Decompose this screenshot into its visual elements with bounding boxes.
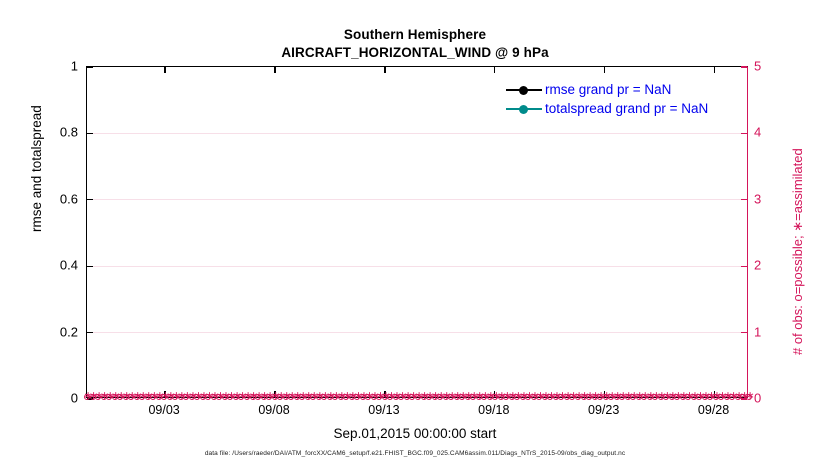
obs-assimilated-marker: ∗ [608,392,615,401]
obs-possible-marker [310,394,316,400]
y-axis-left-ticklabel: 0.4 [60,258,78,273]
obs-assimilated-marker: ∗ [365,392,372,401]
obs-possible-marker [553,394,559,400]
chart-title: Southern Hemisphere [0,26,830,44]
obs-possible-marker [266,394,272,400]
obs-possible-marker [338,394,344,400]
y-axis-left-ticklabel: 0.2 [60,324,78,339]
obs-possible-marker [448,394,454,400]
obs-possible-marker [327,394,333,400]
obs-assimilated-marker: ∗ [558,392,565,401]
obs-possible-marker [630,394,636,400]
y-axis-left-tick [87,332,93,333]
obs-assimilated-marker: ∗ [210,392,217,401]
obs-possible-marker [261,394,267,400]
obs-assimilated-marker: ∗ [431,392,438,401]
obs-assimilated-marker: ∗ [619,392,626,401]
obs-possible-marker [178,394,184,400]
y-axis-right-tick [741,133,747,134]
x-axis-ticklabel: 09/28 [698,403,729,417]
obs-assimilated-marker: ∗ [508,392,515,401]
obs-assimilated-marker: ∗ [679,392,686,401]
y-axis-left-ticklabel: 0.6 [60,191,78,206]
y-axis-left-ticklabel: 1 [71,59,78,74]
x-axis-tick [384,391,385,397]
obs-possible-marker [349,394,355,400]
obs-possible-marker [674,394,680,400]
legend-marker-totalspread-icon [506,102,542,116]
obs-assimilated-marker: ∗ [205,392,212,401]
obs-possible-marker [227,394,233,400]
obs-possible-marker [531,394,537,400]
obs-assimilated-marker: ∗ [541,392,548,401]
obs-assimilated-marker: ∗ [409,392,416,401]
obs-possible-marker [459,394,465,400]
obs-possible-marker [470,394,476,400]
x-axis-tick-top [604,67,605,73]
x-axis-tick-top [384,67,385,73]
obs-assimilated-marker: ∗ [243,392,250,401]
obs-possible-marker [95,394,101,400]
obs-assimilated-marker: ∗ [128,392,135,401]
obs-possible-marker [277,394,283,400]
obs-possible-marker [536,394,542,400]
obs-possible-marker [194,394,200,400]
obs-assimilated-marker: ∗ [624,392,631,401]
obs-assimilated-marker: ∗ [177,392,184,401]
obs-possible-marker [696,394,702,400]
obs-assimilated-marker: ∗ [299,392,306,401]
obs-possible-marker [123,394,129,400]
obs-possible-marker [680,394,686,400]
obs-assimilated-marker: ∗ [475,392,482,401]
obs-possible-marker [592,394,598,400]
obs-assimilated-marker: ∗ [663,392,670,401]
obs-assimilated-marker: ∗ [277,392,284,401]
obs-assimilated-marker: ∗ [172,392,179,401]
obs-assimilated-marker: ∗ [403,392,410,401]
obs-assimilated-marker: ∗ [95,392,102,401]
obs-possible-marker [581,394,587,400]
obs-assimilated-marker: ∗ [690,392,697,401]
obs-assimilated-marker: ∗ [597,392,604,401]
x-axis-title: Sep.01,2015 00:00:00 start [0,426,830,441]
y-axis-right-tick [741,266,747,267]
obs-possible-marker [503,394,509,400]
obs-assimilated-marker: ∗ [530,392,537,401]
obs-assimilated-marker: ∗ [216,392,223,401]
obs-possible-marker [525,394,531,400]
x-axis-tick-top [274,67,275,73]
obs-possible-marker [305,394,311,400]
obs-possible-marker [145,394,151,400]
chart-title-block: Southern Hemisphere AIRCRAFT_HORIZONTAL_… [0,26,830,62]
data-file-footer: data file: /Users/raeder/DAI/ATM_forcXX/… [0,450,830,457]
obs-possible-marker [404,394,410,400]
obs-possible-marker [238,394,244,400]
obs-assimilated-marker: ∗ [685,392,692,401]
obs-possible-marker [112,394,118,400]
obs-assimilated-marker: ∗ [321,392,328,401]
y-axis-right-ticklabel: 3 [754,191,761,206]
x-axis-tick [164,391,165,397]
obs-assimilated-marker: ∗ [199,392,206,401]
obs-assimilated-marker: ∗ [635,392,642,401]
obs-possible-marker [586,394,592,400]
obs-possible-marker [614,394,620,400]
obs-assimilated-marker: ∗ [701,392,708,401]
y-axis-right-tick [741,332,747,333]
y-axis-left-tick [87,398,93,399]
obs-assimilated-marker: ∗ [392,392,399,401]
obs-possible-marker [244,394,250,400]
obs-assimilated-marker: ∗ [117,392,124,401]
gridline [87,199,747,200]
obs-assimilated-marker: ∗ [166,392,173,401]
obs-assimilated-marker: ∗ [448,392,455,401]
obs-assimilated-marker: ∗ [348,392,355,401]
obs-assimilated-marker: ∗ [326,392,333,401]
x-axis-ticklabel: 09/23 [588,403,619,417]
obs-assimilated-marker: ∗ [227,392,234,401]
obs-possible-marker [150,394,156,400]
obs-possible-marker [658,394,664,400]
obs-possible-marker [205,394,211,400]
obs-assimilated-marker: ∗ [188,392,195,401]
y-axis-right-tick [741,398,747,399]
x-axis-ticklabel: 09/03 [148,403,179,417]
obs-possible-marker [156,394,162,400]
obs-assimilated-marker: ∗ [442,392,449,401]
obs-possible-marker [321,394,327,400]
obs-possible-marker [106,394,112,400]
obs-assimilated-marker: ∗ [470,392,477,401]
obs-assimilated-marker: ∗ [420,392,427,401]
obs-possible-marker [415,394,421,400]
obs-possible-marker [183,394,189,400]
y-axis-right-ticklabel: 0 [754,391,761,406]
obs-possible-marker [454,394,460,400]
obs-possible-marker [663,394,669,400]
y-axis-right-ticklabel: 1 [754,324,761,339]
legend-marker-rmse-icon [506,83,542,97]
obs-possible-marker [597,394,603,400]
obs-possible-marker [172,394,178,400]
obs-assimilated-marker: ∗ [376,392,383,401]
obs-possible-marker [641,394,647,400]
obs-assimilated-marker: ∗ [641,392,648,401]
obs-possible-marker [250,394,256,400]
y-axis-left-ticklabel: 0 [71,391,78,406]
obs-possible-marker [255,394,261,400]
obs-assimilated-marker: ∗ [106,392,113,401]
obs-assimilated-marker: ∗ [707,392,714,401]
obs-assimilated-marker: ∗ [696,392,703,401]
obs-possible-marker [393,394,399,400]
obs-assimilated-marker: ∗ [569,392,576,401]
obs-assimilated-marker: ∗ [580,392,587,401]
obs-possible-marker [211,394,217,400]
obs-assimilated-marker: ∗ [652,392,659,401]
obs-assimilated-marker: ∗ [255,392,262,401]
y-axis-left-tick [87,66,93,67]
obs-possible-marker [443,394,449,400]
obs-assimilated-marker: ∗ [613,392,620,401]
obs-assimilated-marker: ∗ [122,392,129,401]
obs-possible-marker [625,394,631,400]
obs-possible-marker [354,394,360,400]
obs-possible-marker [437,394,443,400]
obs-assimilated-marker: ∗ [288,392,295,401]
obs-assimilated-marker: ∗ [332,392,339,401]
obs-possible-marker [465,394,471,400]
obs-possible-marker [421,394,427,400]
obs-possible-marker [481,394,487,400]
obs-possible-marker [117,394,123,400]
obs-assimilated-marker: ∗ [304,392,311,401]
obs-assimilated-marker: ∗ [370,392,377,401]
obs-possible-marker [575,394,581,400]
obs-possible-marker [387,394,393,400]
gridline [87,266,747,267]
obs-possible-marker [398,394,404,400]
x-axis-ticklabel: 09/18 [478,403,509,417]
obs-assimilated-marker: ∗ [591,392,598,401]
obs-possible-marker [288,394,294,400]
chart-subtitle: AIRCRAFT_HORIZONTAL_WIND @ 9 hPa [0,44,830,62]
x-axis-tick [274,391,275,397]
y-axis-right-ticklabel: 2 [754,258,761,273]
gridline [87,133,747,134]
obs-assimilated-marker: ∗ [536,392,543,401]
obs-assimilated-marker: ∗ [486,392,493,401]
obs-assimilated-marker: ∗ [282,392,289,401]
obs-assimilated-marker: ∗ [150,392,157,401]
obs-assimilated-marker: ∗ [337,392,344,401]
obs-assimilated-marker: ∗ [574,392,581,401]
obs-possible-marker [669,394,675,400]
y-axis-right-ticklabel: 4 [754,125,761,140]
obs-assimilated-marker: ∗ [519,392,526,401]
obs-assimilated-marker: ∗ [514,392,521,401]
y-axis-left-tick [87,133,93,134]
obs-assimilated-marker: ∗ [144,392,151,401]
obs-possible-marker [200,394,206,400]
obs-possible-marker [409,394,415,400]
obs-assimilated-marker: ∗ [426,392,433,401]
obs-possible-marker [636,394,642,400]
obs-assimilated-marker: ∗ [668,392,675,401]
obs-possible-marker [222,394,228,400]
obs-assimilated-marker: ∗ [359,392,366,401]
obs-assimilated-marker: ∗ [266,392,273,401]
obs-assimilated-marker: ∗ [459,392,466,401]
obs-assimilated-marker: ∗ [100,392,107,401]
obs-possible-marker [619,394,625,400]
x-axis-tick [714,391,715,397]
obs-assimilated-marker: ∗ [718,392,725,401]
obs-assimilated-marker: ∗ [552,392,559,401]
obs-possible-marker [432,394,438,400]
obs-possible-marker [729,394,735,400]
obs-possible-marker [294,394,300,400]
obs-possible-marker [702,394,708,400]
obs-assimilated-marker: ∗ [249,392,256,401]
obs-possible-marker [299,394,305,400]
obs-assimilated-marker: ∗ [260,392,267,401]
obs-assimilated-marker: ∗ [547,392,554,401]
obs-possible-marker [707,394,713,400]
obs-assimilated-marker: ∗ [563,392,570,401]
y-axis-left-tick [87,199,93,200]
obs-assimilated-marker: ∗ [398,392,405,401]
obs-possible-marker [608,394,614,400]
obs-possible-marker [365,394,371,400]
obs-assimilated-marker: ∗ [415,392,422,401]
x-axis-tick [604,391,605,397]
legend-label-rmse: rmse grand pr = NaN [545,82,671,97]
obs-assimilated-marker: ∗ [453,392,460,401]
y-axis-right-tick [741,66,747,67]
obs-possible-marker [564,394,570,400]
obs-assimilated-marker: ∗ [657,392,664,401]
obs-possible-marker [371,394,377,400]
obs-possible-marker [332,394,338,400]
obs-assimilated-marker: ∗ [503,392,510,401]
obs-assimilated-marker: ∗ [464,392,471,401]
gridline [87,332,747,333]
obs-assimilated-marker: ∗ [646,392,653,401]
obs-assimilated-marker: ∗ [133,392,140,401]
obs-assimilated-marker: ∗ [387,392,394,401]
obs-possible-marker [283,394,289,400]
obs-assimilated-marker: ∗ [183,392,190,401]
obs-possible-marker [139,394,145,400]
obs-possible-marker [652,394,658,400]
obs-possible-marker [360,394,366,400]
obs-possible-marker [520,394,526,400]
legend-label-totalspread: totalspread grand pr = NaN [545,101,708,116]
obs-assimilated-marker: ∗ [155,392,162,401]
x-axis-ticklabel: 09/13 [368,403,399,417]
obs-possible-marker [691,394,697,400]
obs-assimilated-marker: ∗ [139,392,146,401]
y-axis-right-title: # of obs: o=possible; ∗=assimilated [790,148,806,355]
obs-assimilated-marker: ∗ [437,392,444,401]
x-axis-tick-top [714,67,715,73]
y-axis-right-tick [741,199,747,200]
obs-assimilated-marker: ∗ [343,392,350,401]
observation-count-series: ∗∗∗∗∗∗∗∗∗∗∗∗∗∗∗∗∗∗∗∗∗∗∗∗∗∗∗∗∗∗∗∗∗∗∗∗∗∗∗∗… [87,392,747,401]
obs-possible-marker [216,394,222,400]
obs-assimilated-marker: ∗ [723,392,730,401]
obs-possible-marker [476,394,482,400]
obs-assimilated-marker: ∗ [497,392,504,401]
y-axis-left-title: rmse and totalspread [29,105,44,232]
legend-item-rmse: rmse grand pr = NaN [506,80,708,99]
obs-assimilated-marker: ∗ [586,392,593,401]
obs-assimilated-marker: ∗ [481,392,488,401]
obs-possible-marker [514,394,520,400]
obs-possible-marker [569,394,575,400]
x-axis-tick-top [164,67,165,73]
y-axis-right-ticklabel: 5 [754,59,761,74]
obs-assimilated-marker: ∗ [194,392,201,401]
obs-possible-marker [718,394,724,400]
obs-possible-marker [189,394,195,400]
obs-assimilated-marker: ∗ [310,392,317,401]
obs-assimilated-marker: ∗ [674,392,681,401]
x-axis-tick [494,391,495,397]
obs-possible-marker [376,394,382,400]
obs-possible-marker [134,394,140,400]
obs-possible-marker [233,394,239,400]
y-axis-left-ticklabel: 0.8 [60,125,78,140]
obs-assimilated-marker: ∗ [525,392,532,401]
x-axis-tick-top [494,67,495,73]
obs-assimilated-marker: ∗ [232,392,239,401]
obs-possible-marker [685,394,691,400]
obs-possible-marker [558,394,564,400]
obs-assimilated-marker: ∗ [111,392,118,401]
obs-possible-marker [128,394,134,400]
legend: rmse grand pr = NaN totalspread grand pr… [506,80,708,118]
obs-assimilated-marker: ∗ [630,392,637,401]
obs-assimilated-marker: ∗ [238,392,245,401]
obs-possible-marker [101,394,107,400]
obs-assimilated-marker: ∗ [354,392,361,401]
obs-possible-marker [647,394,653,400]
obs-possible-marker [426,394,432,400]
obs-possible-marker [343,394,349,400]
obs-possible-marker [547,394,553,400]
obs-assimilated-marker: ∗ [315,392,322,401]
obs-possible-marker [487,394,493,400]
obs-possible-marker [167,394,173,400]
legend-item-totalspread: totalspread grand pr = NaN [506,99,708,118]
obs-possible-marker [498,394,504,400]
obs-assimilated-marker: ∗ [729,392,736,401]
y-axis-left-tick [87,266,93,267]
x-axis-ticklabel: 09/08 [258,403,289,417]
obs-possible-marker [542,394,548,400]
obs-assimilated-marker: ∗ [293,392,300,401]
obs-possible-marker [724,394,730,400]
obs-assimilated-marker: ∗ [221,392,228,401]
obs-possible-marker [316,394,322,400]
obs-possible-marker [509,394,515,400]
